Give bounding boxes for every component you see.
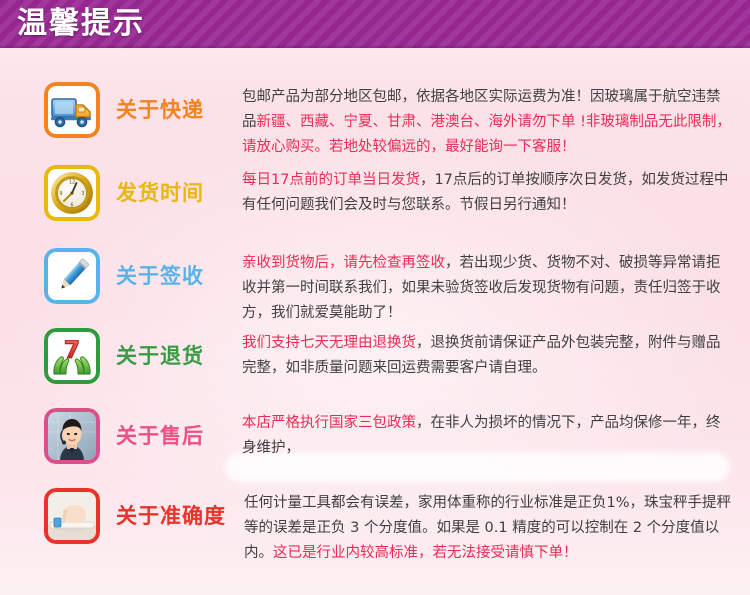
- section-row-shipping-time: 123 69 发货时间 每日17点前的订单当日发货，17点后的订单按顺序次日发货…: [0, 165, 750, 221]
- scale-feet-icon: [44, 488, 100, 544]
- text-segment-highlight: 这已是行业内较高标准，若无法接受请慎下单！: [273, 545, 578, 561]
- section-title-after-sales: 关于售后: [116, 408, 236, 464]
- feet-on-scale-glyph: [48, 492, 96, 540]
- section-title-shipping-time: 发货时间: [116, 165, 236, 221]
- truck-glyph: [48, 86, 96, 134]
- section-title-signing: 关于签收: [116, 248, 236, 304]
- section-title-delivery: 关于快递: [116, 82, 236, 138]
- section-body-accuracy: 任何计量工具都会有误差，家用体重称的行业标准是正负1%，珠宝秤手提秤等的误差是正…: [244, 488, 734, 566]
- section-row-delivery: 关于快递 包邮产品为部分地区包邮，依据各地区实际运费为准！因玻璃属于航空违禁品新…: [0, 82, 750, 160]
- text-segment-highlight: 亲收到货物后，请先检查再签收: [242, 255, 445, 271]
- svg-text:12: 12: [69, 180, 75, 186]
- clock-icon: 123 69: [44, 165, 100, 221]
- section-body-after-sales: 本店严格执行国家三包政策，在非人为损坏的情况下，产品均保修一年，终身维护，: [242, 408, 734, 461]
- text-segment-highlight: 每日17点前的订单当日发货: [242, 172, 420, 188]
- seven-day-return-icon: 7: [44, 328, 100, 384]
- svg-text:9: 9: [59, 191, 62, 197]
- section-body-delivery: 包邮产品为部分地区包邮，依据各地区实际运费为准！因玻璃属于航空违禁品新疆、西藏、…: [242, 82, 734, 160]
- section-row-accuracy: 关于准确度 任何计量工具都会有误差，家用体重称的行业标准是正负1%，珠宝秤手提秤…: [0, 488, 750, 566]
- pencil-glyph: [48, 252, 96, 300]
- section-row-signing: 关于签收 亲收到货物后，请先检查再签收，若出现少货、货物不对、破损等异常请拒收并…: [0, 248, 750, 326]
- section-title-returns: 关于退货: [116, 328, 236, 384]
- section-body-returns: 我们支持七天无理由退换货，退换货前请保证产品外包装完整，附件与赠品完整，如非质量…: [242, 328, 734, 381]
- clock-glyph: 123 69: [48, 169, 96, 217]
- pencil-icon: [44, 248, 100, 304]
- section-body-shipping-time: 每日17点前的订单当日发货，17点后的订单按顺序次日发货，如发货过程中有任何问题…: [242, 165, 734, 218]
- section-row-returns: 7 关于退货 我们支持七天无理由退换货，退换货前请保证产品外包装完整，附件与赠品…: [0, 328, 750, 384]
- page-header-banner: 温馨提示: [0, 0, 750, 48]
- svg-text:6: 6: [70, 202, 73, 208]
- support-agent-photo-glyph: [48, 412, 96, 460]
- delivery-truck-icon: [44, 82, 100, 138]
- text-segment-highlight: 新疆、西藏、宁夏、甘肃、港澳台、海外请勿下单 !非玻璃制品无此限制，请放心购买。…: [242, 114, 731, 155]
- section-body-signing: 亲收到货物后，请先检查再签收，若出现少货、货物不对、破损等异常请拒收并第一时间联…: [242, 248, 734, 326]
- section-title-accuracy: 关于准确度: [116, 488, 244, 544]
- promo-notice-page: 温馨提示: [0, 0, 750, 595]
- seven-in-hands-glyph: 7: [48, 332, 96, 380]
- page-title: 温馨提示: [17, 5, 145, 43]
- text-segment-highlight: 本店严格执行国家三包政策: [242, 415, 416, 431]
- section-row-after-sales: 关于售后 本店严格执行国家三包政策，在非人为损坏的情况下，产品均保修一年，终身维…: [0, 408, 750, 464]
- customer-service-icon: [44, 408, 100, 464]
- text-segment-highlight: 我们支持七天无理由退换货: [242, 335, 416, 351]
- svg-text:3: 3: [81, 191, 84, 197]
